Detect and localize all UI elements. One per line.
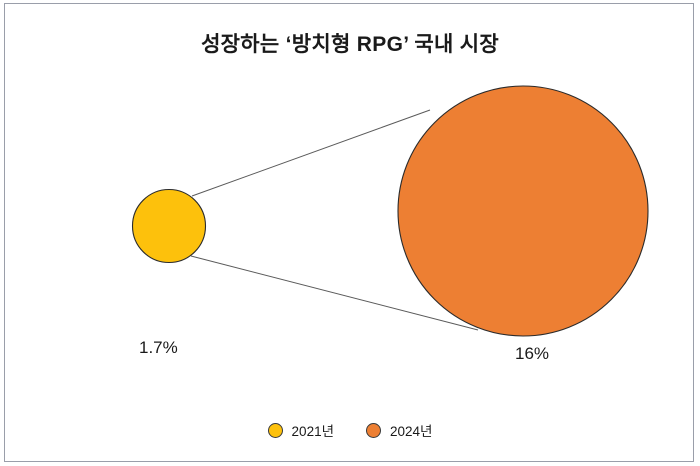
connector-line-upper <box>192 110 430 196</box>
legend-item-2024[interactable]: 2024년 <box>366 420 432 440</box>
value-label-2021: 1.7% <box>139 338 178 358</box>
chart-legend: 2021년 2024년 <box>0 420 700 440</box>
bubble-2024[interactable] <box>398 86 648 336</box>
bubble-2021[interactable] <box>133 190 206 263</box>
legend-label-2024: 2024년 <box>390 420 432 440</box>
legend-label-2021: 2021년 <box>292 420 334 440</box>
circle-marker-icon <box>268 423 283 438</box>
bubble-plot-area <box>0 0 700 466</box>
value-label-2024: 16% <box>515 344 549 364</box>
legend-item-2021[interactable]: 2021년 <box>268 420 334 440</box>
chart-container: 성장하는 ‘방치형 RPG’ 국내 시장 1.7% 16% 2021년 2024… <box>0 0 700 466</box>
circle-marker-icon <box>366 423 381 438</box>
